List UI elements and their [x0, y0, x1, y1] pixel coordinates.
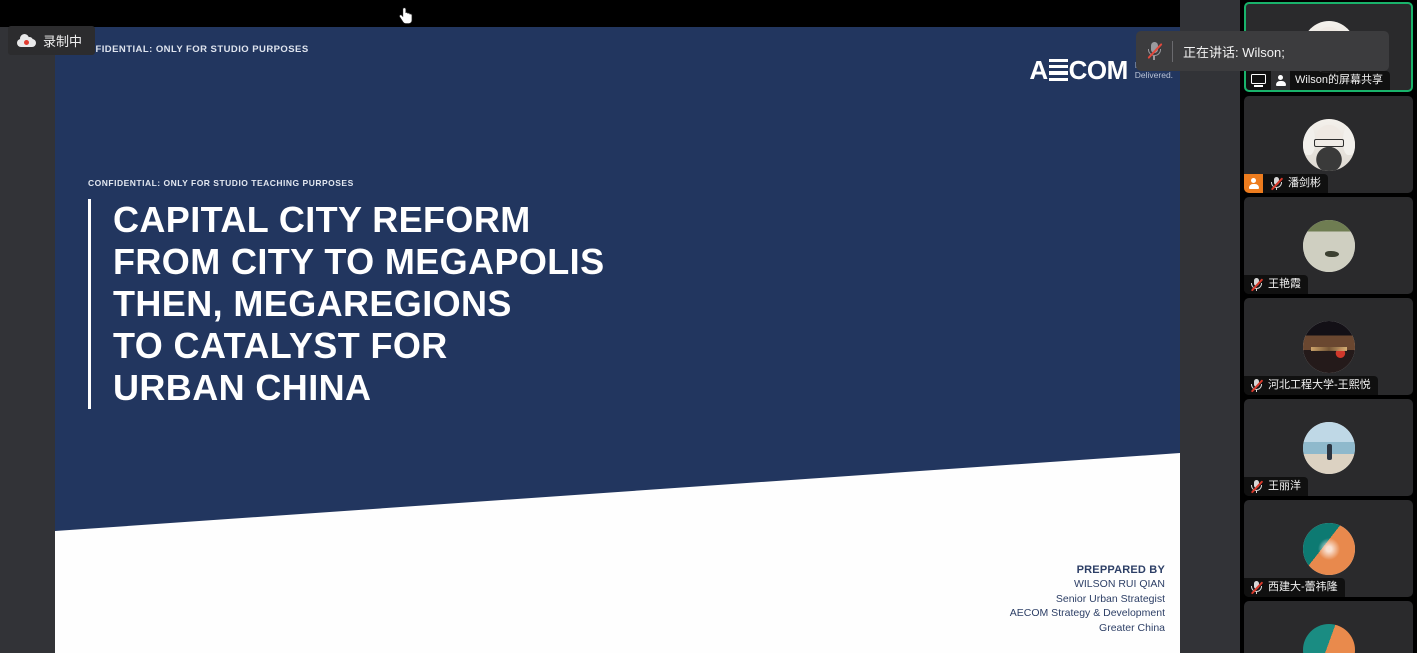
- prepared-by-region: Greater China: [1010, 621, 1165, 636]
- pointing-hand-cursor: [399, 7, 414, 26]
- participant-tile[interactable]: 潘剑彬: [1244, 96, 1413, 193]
- speaking-toast-text: 正在讲话: Wilson;: [1183, 42, 1285, 61]
- meeting-screen-share-view: CONFIDENTIAL: ONLY FOR STUDIO PURPOSES A…: [0, 0, 1417, 653]
- prepared-by-name: WILSON RUI QIAN: [1010, 577, 1165, 592]
- participant-name: Wilson的屏幕共享: [1295, 71, 1383, 90]
- aecom-wordmark: ACOM: [1029, 57, 1127, 83]
- mic-muted-icon: [1146, 41, 1162, 61]
- avatar: [1303, 119, 1355, 171]
- participant-tile[interactable]: 王艳霞: [1244, 197, 1413, 294]
- participant-name: 潘剑彬: [1288, 174, 1321, 193]
- recording-indicator[interactable]: 录制中: [8, 26, 95, 55]
- participant-name: 王艳霞: [1268, 275, 1301, 294]
- tile-status-bar: Wilson的屏幕共享: [1246, 71, 1390, 90]
- aecom-letter-a: A: [1029, 57, 1047, 83]
- cloud-record-icon: [17, 35, 36, 47]
- tile-status-bar: 河北工程大学-王熙悦: [1244, 376, 1378, 395]
- tile-status-bar: 王艳霞: [1244, 275, 1308, 294]
- aecom-letters-com: COM: [1069, 57, 1128, 83]
- mic-muted-icon: [1250, 378, 1263, 393]
- shared-slide: CONFIDENTIAL: ONLY FOR STUDIO PURPOSES A…: [55, 27, 1180, 653]
- participant-name: 河北工程大学-王熙悦: [1268, 376, 1371, 395]
- aecom-letter-e-icon: [1049, 59, 1068, 82]
- slide-title-line-1: CAPITAL CITY REFORM: [113, 199, 605, 241]
- participant-tile[interactable]: 西建大-蕾祎隆: [1244, 500, 1413, 597]
- slide-title-line-2: FROM CITY TO MEGAPOLIS: [113, 241, 605, 283]
- prepared-by-role: Senior Urban Strategist: [1010, 592, 1165, 607]
- avatar: [1303, 220, 1355, 272]
- aecom-tagline-line2: Delivered.: [1135, 70, 1174, 80]
- slide-title-line-5: URBAN CHINA: [113, 367, 605, 409]
- mic-muted-icon: [1250, 580, 1263, 595]
- recording-label: 录制中: [43, 31, 82, 50]
- participant-tile[interactable]: 王丽洋: [1244, 399, 1413, 496]
- slide-title-line-3: THEN, MEGAREGIONS: [113, 283, 605, 325]
- toast-divider: [1172, 41, 1173, 62]
- participant-tile[interactable]: 河北工程大学-王熙悦: [1244, 298, 1413, 395]
- slide-title-line-4: TO CATALYST FOR: [113, 325, 605, 367]
- participant-name: 王丽洋: [1268, 477, 1301, 496]
- screen-share-icon: [1251, 74, 1266, 87]
- speaking-toast[interactable]: 正在讲话: Wilson;: [1136, 31, 1389, 71]
- avatar: [1303, 321, 1355, 373]
- mic-muted-icon: [1270, 176, 1283, 191]
- tile-status-bar: 潘剑彬: [1244, 174, 1328, 193]
- mic-muted-icon: [1250, 479, 1263, 494]
- prepared-by-team: AECOM Strategy & Development: [1010, 606, 1165, 621]
- slide-header-confidential: CONFIDENTIAL: ONLY FOR STUDIO PURPOSES: [73, 44, 309, 55]
- participant-tile[interactable]: [1244, 601, 1413, 653]
- prepared-by-heading: PREPPARED BY: [1010, 563, 1165, 578]
- participant-icon: [1271, 71, 1290, 90]
- slide-title-block: CAPITAL CITY REFORM FROM CITY TO MEGAPOL…: [88, 199, 605, 409]
- participant-filmstrip[interactable]: Wilson的屏幕共享 潘剑彬: [1240, 0, 1417, 653]
- avatar: [1303, 523, 1355, 575]
- slide-sub-confidential: CONFIDENTIAL: ONLY FOR STUDIO TEACHING P…: [88, 178, 354, 188]
- top-black-band: [0, 0, 1180, 27]
- participant-name: 西建大-蕾祎隆: [1268, 578, 1338, 597]
- avatar: [1303, 624, 1355, 653]
- prepared-by-block: PREPPARED BY WILSON RUI QIAN Senior Urba…: [1010, 563, 1165, 636]
- mic-muted-icon: [1250, 277, 1263, 292]
- host-badge-icon: [1244, 174, 1263, 193]
- tile-status-bar: 西建大-蕾祎隆: [1244, 578, 1345, 597]
- tile-status-bar: 王丽洋: [1244, 477, 1308, 496]
- avatar: [1303, 422, 1355, 474]
